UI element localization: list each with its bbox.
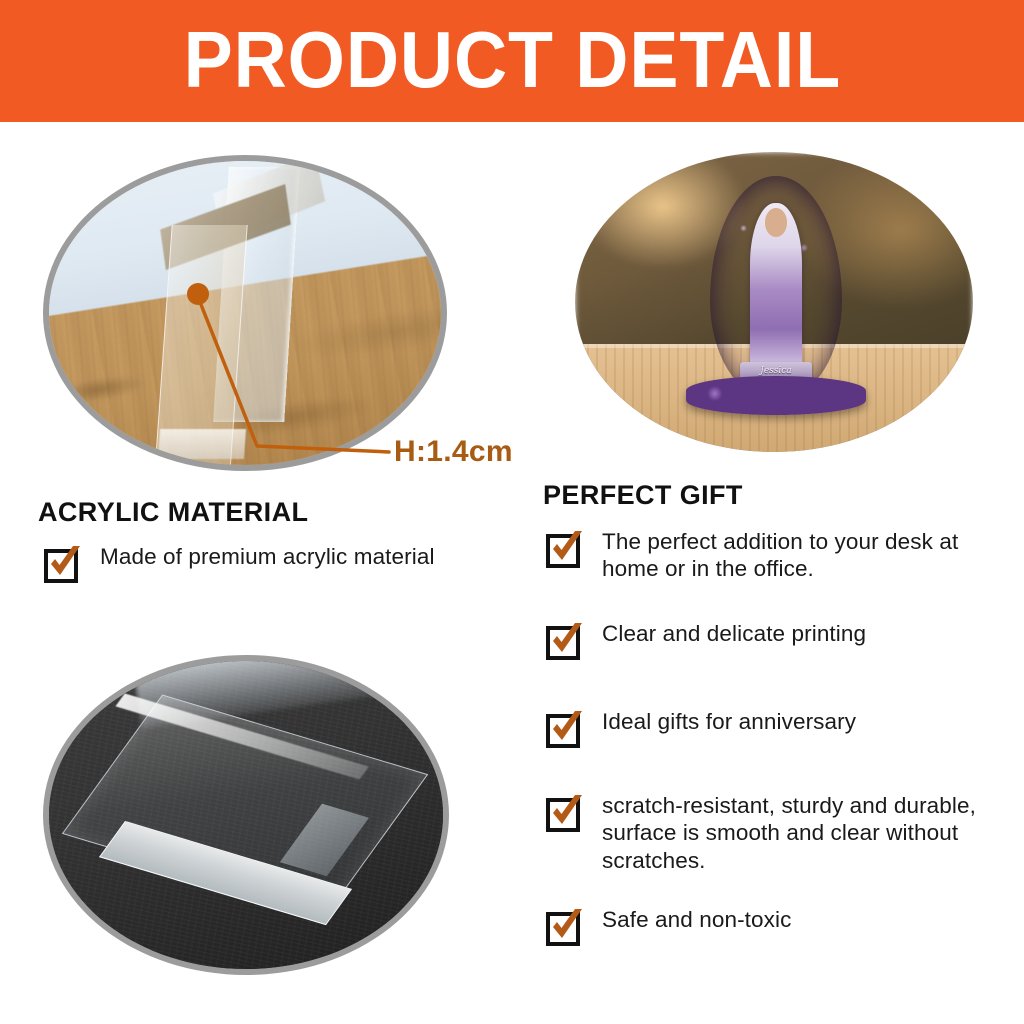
list-item-label: Clear and delicate printing	[602, 620, 866, 647]
list-item-label: Ideal gifts for anniversary	[602, 708, 856, 735]
statue-photo: Jessica	[575, 152, 973, 452]
checkmark-glyph	[546, 530, 586, 568]
checkmark-glyph	[546, 622, 586, 660]
list-item: The perfect addition to your desk at hom…	[546, 528, 1001, 583]
checkbox-checked-icon	[546, 908, 586, 946]
product-detail-page: PRODUCT DETAIL H:1.4cm Jessica ACRYLIC M…	[0, 0, 1024, 1024]
engraved-name-text: Jessica	[760, 367, 791, 376]
list-item: scratch-resistant, sturdy and durable, s…	[546, 792, 1006, 874]
checkbox-checked-icon	[44, 545, 84, 583]
checkbox-checked-icon	[546, 794, 586, 832]
list-item-label: scratch-resistant, sturdy and durable, s…	[602, 792, 1006, 874]
list-item-label: Safe and non-toxic	[602, 906, 791, 933]
list-item: Made of premium acrylic material	[44, 543, 514, 583]
checkmark-glyph	[546, 794, 586, 832]
page-header-banner: PRODUCT DETAIL	[0, 0, 1024, 122]
checkbox-checked-icon	[546, 710, 586, 748]
checkmark-glyph	[546, 710, 586, 748]
photo-scene-edge	[49, 161, 441, 465]
acrylic-edge-photo	[43, 155, 447, 471]
dimension-label: H:1.4cm	[394, 435, 513, 469]
virgin-mary-figure	[750, 203, 802, 383]
list-item: Safe and non-toxic	[546, 906, 1001, 946]
checkbox-checked-icon	[546, 530, 586, 568]
amethyst-rose-base	[686, 376, 865, 415]
section-heading-perfect-gift: PERFECT GIFT	[543, 480, 743, 511]
page-title: PRODUCT DETAIL	[183, 20, 841, 100]
list-item-label: The perfect addition to your desk at hom…	[602, 528, 1001, 583]
checkmark-glyph	[44, 545, 84, 583]
acrylic-slab-base-highlight	[158, 429, 246, 459]
section-heading-acrylic-material: ACRYLIC MATERIAL	[38, 497, 308, 528]
acrylic-block-photo	[43, 655, 449, 975]
list-item: Clear and delicate printing	[546, 620, 1001, 660]
checkmark-glyph	[546, 908, 586, 946]
list-item-label: Made of premium acrylic material	[100, 543, 435, 570]
marker-dot-icon	[187, 283, 209, 305]
checkbox-checked-icon	[546, 622, 586, 660]
list-item: Ideal gifts for anniversary	[546, 708, 1001, 748]
